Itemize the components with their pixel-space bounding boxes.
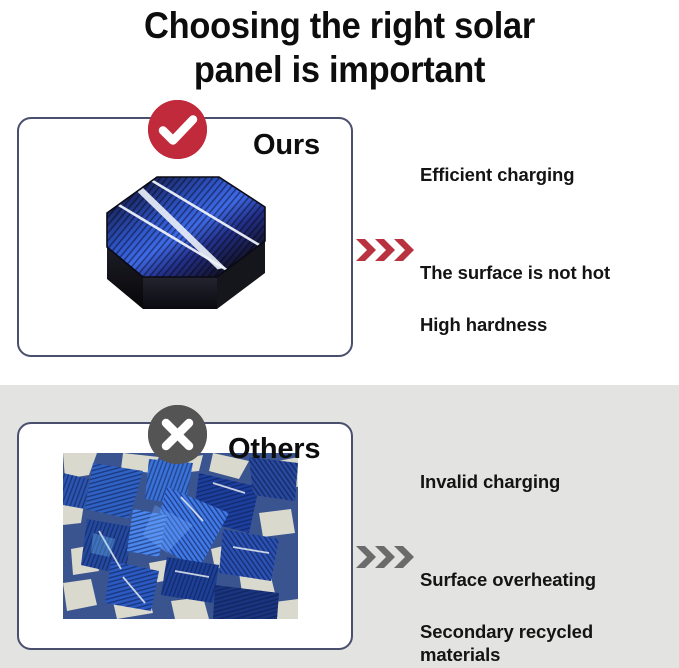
brand-label-others: Others [228,433,320,466]
section-others: Others Invalid charging Surface overheat… [0,385,679,668]
solar-cell-3d-illustration [69,169,309,334]
triple-chevron-right-icon [356,522,414,546]
feature-item: Invalid charging [420,470,596,493]
feature-list-others: Invalid charging Surface overheating Sec… [420,470,596,666]
brand-label-ours: Ours [253,129,320,162]
feature-item-highlighted: The surface is not hot [420,215,610,284]
title-line-2: panel is important [24,48,655,92]
feature-item-highlighted: Surface overheating [420,522,596,591]
feature-list-ours: Efficient charging The surface is not ho… [420,163,610,336]
section-ours: Ours Efficient charging The surface is n… [0,100,679,385]
x-circle-icon [148,405,207,464]
feature-item: High hardness [420,313,610,336]
title-line-1: Choosing the right solar [24,4,655,48]
feature-item: Secondary recycled materials [420,620,596,666]
page-title: Choosing the right solar panel is import… [0,4,679,92]
triple-chevron-right-icon [356,215,414,239]
feature-item: Efficient charging [420,163,610,186]
broken-solar-cells-photo [63,453,298,619]
feature-item-label: The surface is not hot [420,262,610,283]
check-circle-icon [148,100,207,159]
feature-item-label: Surface overheating [420,569,596,590]
